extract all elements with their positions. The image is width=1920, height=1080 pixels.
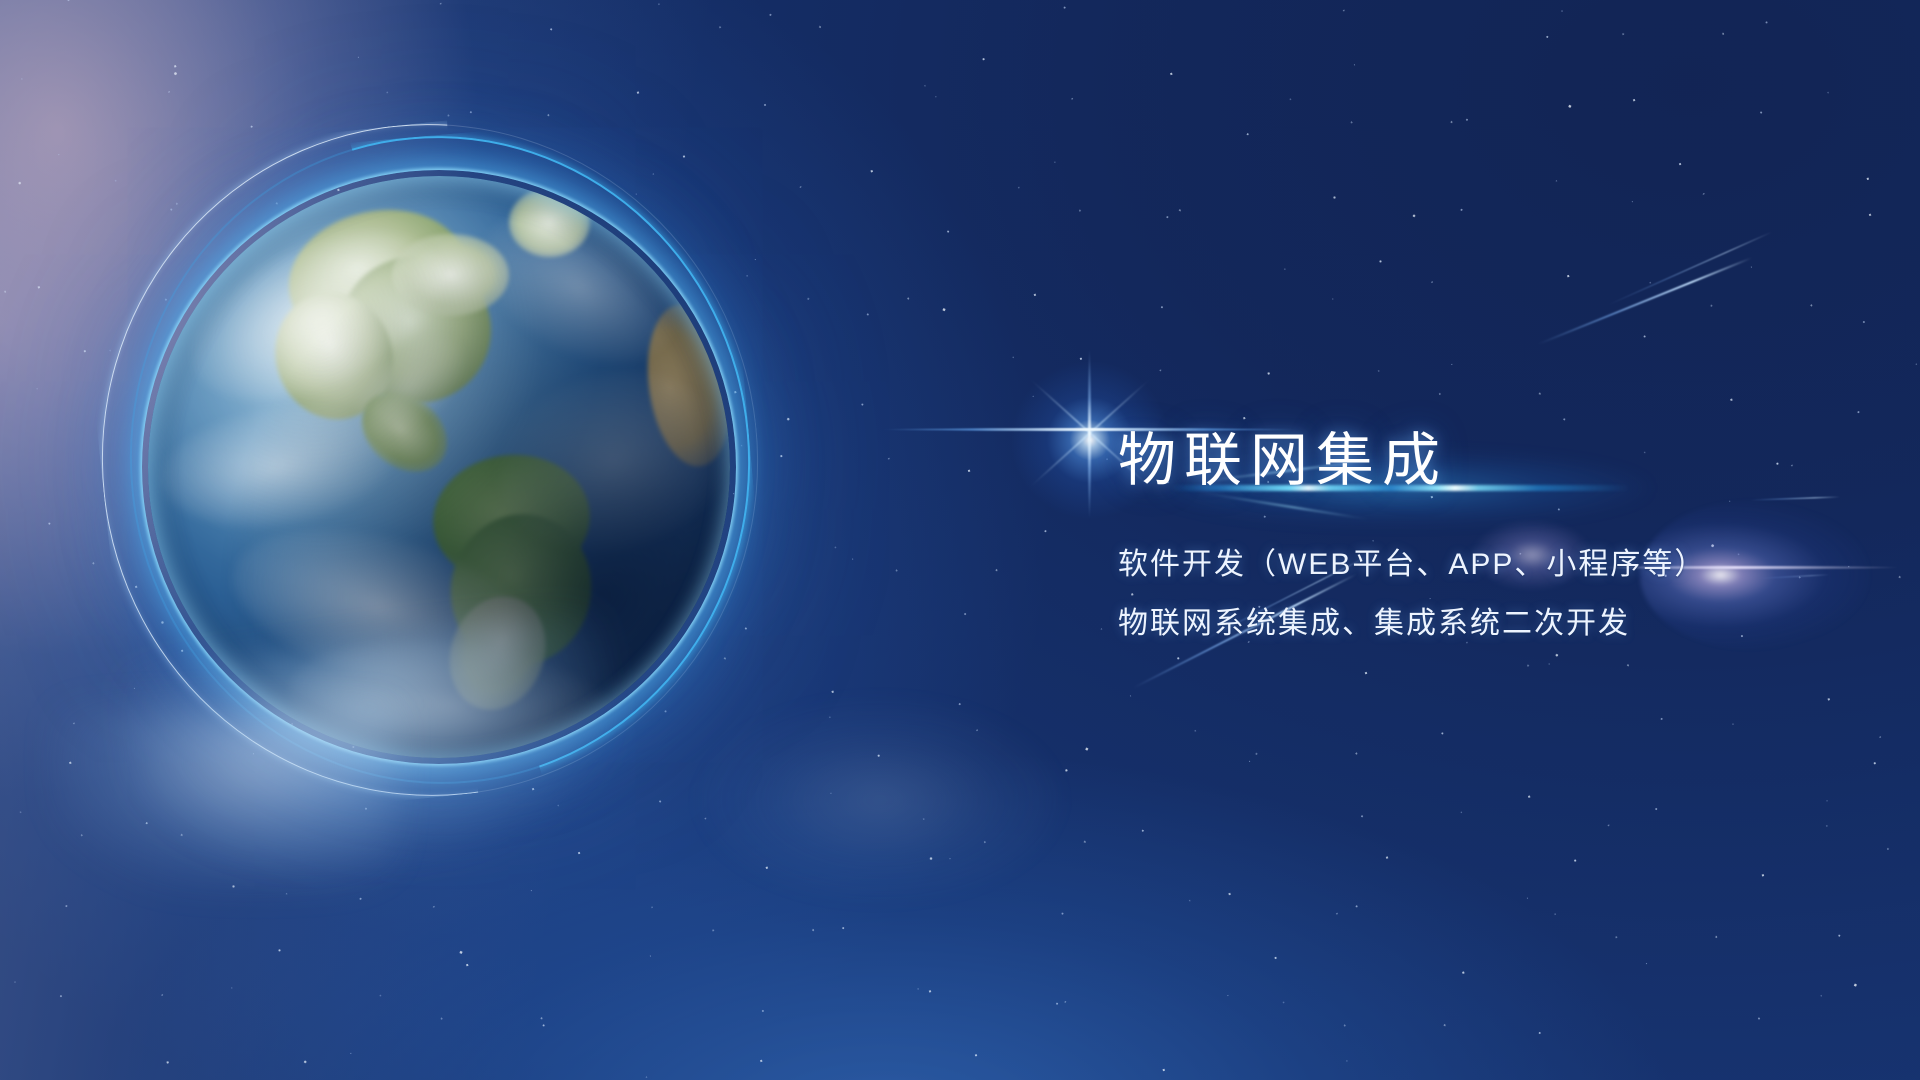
globe-mist-reflection-left <box>54 708 394 888</box>
hero-text-block: 物联网集成 软件开发（WEB平台、APP、小程序等） 物联网系统集成、集成系统二… <box>1118 432 1878 639</box>
hero-banner: 物联网集成 软件开发（WEB平台、APP、小程序等） 物联网系统集成、集成系统二… <box>0 0 1920 1080</box>
hero-subtitle-line-2: 物联网系统集成、集成系统二次开发 <box>1118 609 1878 639</box>
meteor-streak-1 <box>1538 257 1752 345</box>
meteor-streak-2 <box>1607 231 1772 305</box>
hero-subtitle-line-1: 软件开发（WEB平台、APP、小程序等） <box>1118 550 1878 580</box>
page-title: 物联网集成 <box>1118 432 1878 490</box>
blue-star-flare-vertical <box>1088 348 1091 520</box>
earth-globe <box>104 128 764 788</box>
